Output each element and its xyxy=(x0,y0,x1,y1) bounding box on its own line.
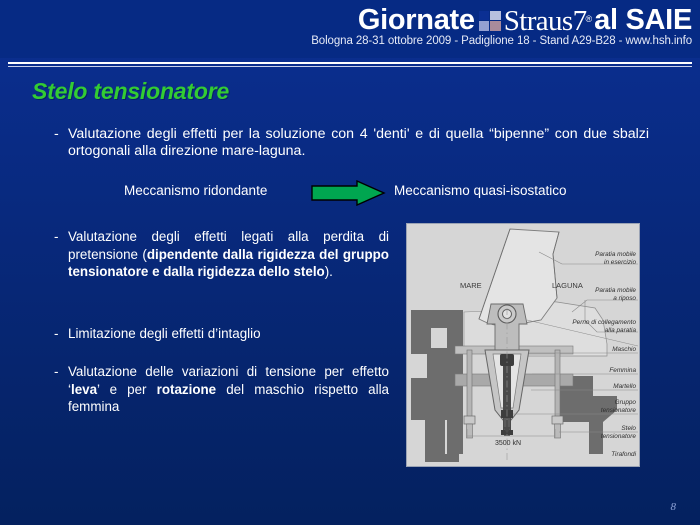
callout-stelo-2: tensionatore xyxy=(601,433,637,440)
divider-line-thin xyxy=(8,66,692,67)
mechanism-left-label: Meccanismo ridondante xyxy=(124,183,267,198)
diagram-label-load: 3500 kN xyxy=(495,440,521,447)
mose-gate-section-drawing: MARE LAGUNA 3500 kN Paratia mobile in es… xyxy=(407,224,639,466)
registered-mark-icon: ® xyxy=(586,15,593,24)
callout-perno-2: alla paratia xyxy=(605,327,637,334)
bullet-4-part-2: ’ e per xyxy=(97,382,157,397)
bullet-dash-icon: - xyxy=(54,228,68,281)
callout-martello: Martello xyxy=(613,383,636,390)
page-number: 8 xyxy=(671,501,677,513)
bullet-dash-icon: - xyxy=(54,126,68,160)
slide-header: Giornate Straus7 ® al SAIE Bologna 28-31… xyxy=(0,0,700,58)
mechanism-right-label: Meccanismo quasi-isostatico xyxy=(394,183,567,198)
callout-perno-1: Perno di collegamento xyxy=(572,319,636,326)
bullet-dash-icon: - xyxy=(54,363,68,416)
technical-drawing-panel: MARE LAGUNA 3500 kN Paratia mobile in es… xyxy=(406,223,640,467)
bullet-item-4: - Valutazione delle variazioni di tensio… xyxy=(54,363,389,416)
green-arrow-icon xyxy=(311,180,386,206)
bullet-text-3: Limitazione degli effetti d’intaglio xyxy=(68,325,389,343)
callout-paratia-mobile-esercizio-2: in esercizio xyxy=(604,259,636,266)
callout-maschio: Maschio xyxy=(612,346,636,353)
page-title: Stelo tensionatore xyxy=(32,78,229,105)
diagram-label-mare: MARE xyxy=(460,281,482,290)
bullet-text-2: Valutazione degli effetti legati alla pe… xyxy=(68,228,389,281)
straus7-squares-icon xyxy=(479,11,502,32)
bullet-item-1: - Valutazione degli effetti per la soluz… xyxy=(54,126,649,160)
logo-word-straus7: Straus7 xyxy=(504,7,587,36)
bullet-4-emphasis-rotazione: rotazione xyxy=(157,382,217,397)
mechanism-comparison-row: Meccanismo ridondante Meccanismo quasi-i… xyxy=(54,180,649,208)
event-logo: Giornate Straus7 ® al SAIE Bologna 28-31… xyxy=(311,6,692,48)
logo-word-al-saie: al SAIE xyxy=(594,6,692,35)
callout-paratia-mobile-riposo-1: Paratia mobile xyxy=(595,287,636,294)
callout-paratia-mobile-riposo-2: a riposo xyxy=(613,295,636,302)
callout-femmina: Femmina xyxy=(609,367,636,374)
callout-gruppo-2: tensionatore xyxy=(601,407,637,414)
bullet-2-part-2: ). xyxy=(325,264,333,279)
callout-stelo-1: Stelo xyxy=(621,425,636,432)
bullet-item-3: - Limitazione degli effetti d’intaglio xyxy=(54,325,389,343)
bullet-text-1: Valutazione degli effetti per la soluzio… xyxy=(68,126,649,160)
logo-word-giornate: Giornate xyxy=(358,6,475,35)
bullet-dash-icon: - xyxy=(54,325,68,343)
callout-paratia-mobile-esercizio-1: Paratia mobile xyxy=(595,251,636,258)
logo-title-row: Giornate Straus7 ® al SAIE xyxy=(311,6,692,35)
header-divider xyxy=(8,62,692,67)
bullet-item-2: - Valutazione degli effetti legati alla … xyxy=(54,228,389,281)
bullet-text-4: Valutazione delle variazioni di tensione… xyxy=(68,363,389,416)
diagram-label-laguna: LAGUNA xyxy=(552,281,583,290)
event-subtitle: Bologna 28-31 ottobre 2009 - Padiglione … xyxy=(311,36,692,48)
slide-root: Giornate Straus7 ® al SAIE Bologna 28-31… xyxy=(0,0,700,525)
divider-line-thick xyxy=(8,62,692,64)
callout-gruppo-1: Gruppo xyxy=(615,399,637,406)
callout-tirafondi: Tirafondi xyxy=(611,451,636,458)
bullet-4-emphasis-leva: leva xyxy=(71,382,97,397)
